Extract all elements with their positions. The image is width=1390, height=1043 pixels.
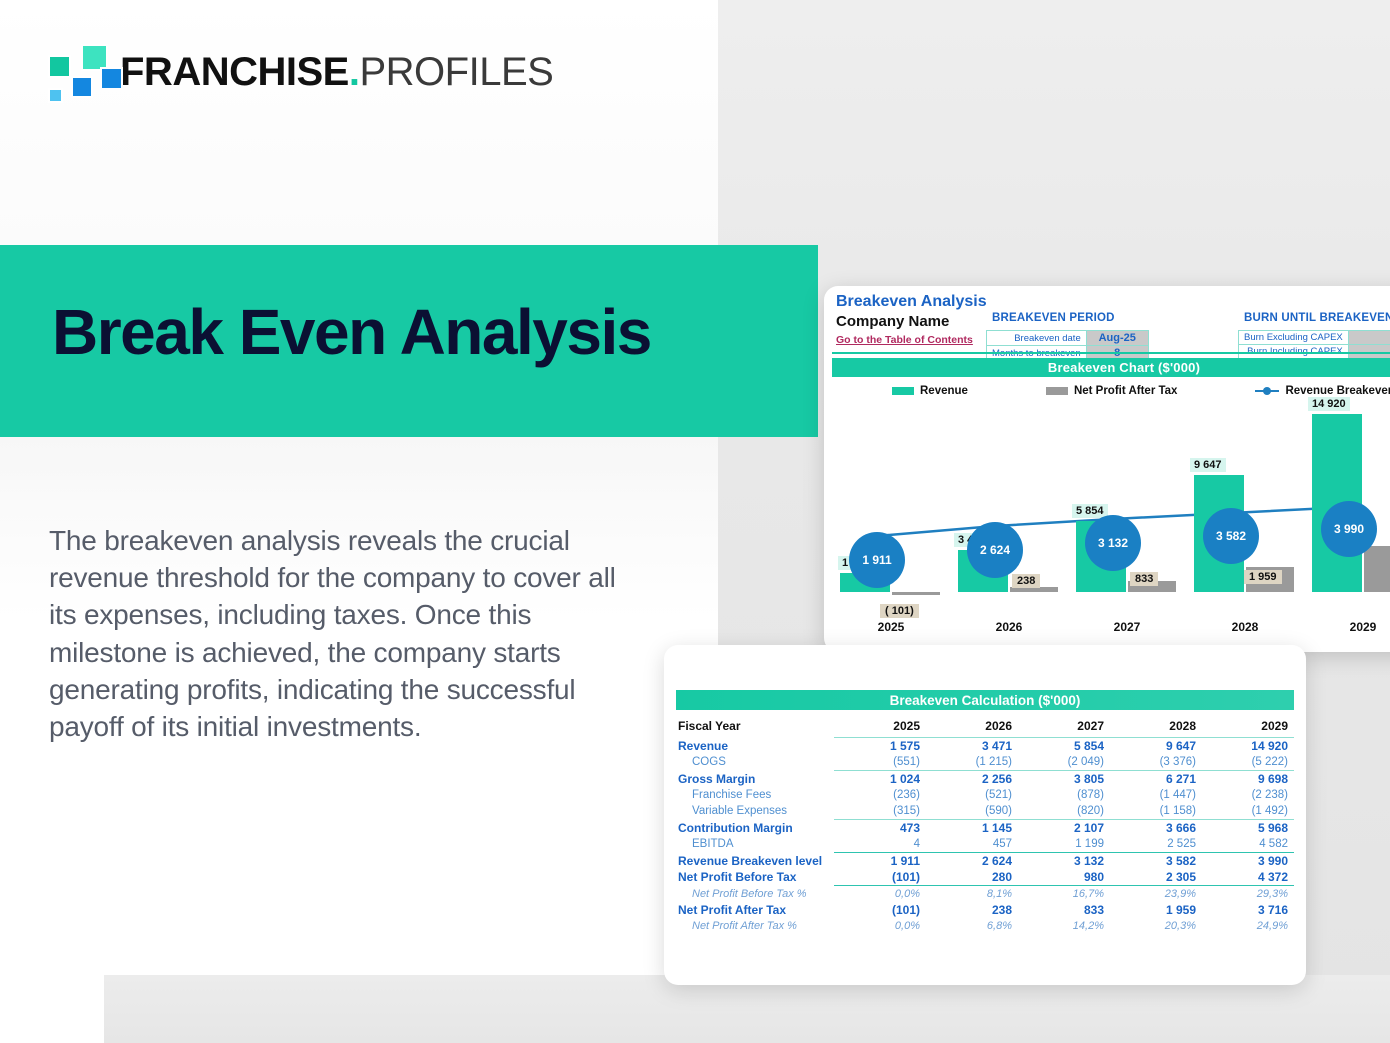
- burn-excluding-capex-label: Burn Excluding CAPEX: [1239, 331, 1349, 345]
- bar-npat-2025[interactable]: [892, 592, 940, 595]
- table-row: Net Profit Before Tax(101)2809802 3054 3…: [676, 869, 1294, 886]
- table-cell: 0,0%: [834, 918, 926, 934]
- x-axis-label-2028: 2028: [1186, 620, 1304, 634]
- legend-swatch-line-icon: [1255, 387, 1279, 395]
- table-cell: 457: [926, 836, 1018, 853]
- marker-breakeven-2028[interactable]: 3 582: [1203, 508, 1259, 564]
- breakeven-date-value[interactable]: Aug-25: [1086, 331, 1148, 346]
- label-npat-2025: ( 101): [880, 604, 919, 618]
- table-cell: 3 132: [1018, 853, 1110, 870]
- table-row: Breakeven date Aug-25: [987, 331, 1149, 346]
- table-cell: 3 990: [1202, 853, 1294, 870]
- breakeven-calculation-card: Breakeven Calculation ($'000) Fiscal Yea…: [664, 645, 1306, 985]
- table-of-contents-link[interactable]: Go to the Table of Contents: [836, 334, 973, 346]
- column-header-year-2027: 2027: [1018, 715, 1110, 738]
- x-axis-label-2025: 2025: [832, 620, 950, 634]
- breakeven-chart-card: Breakeven Analysis Company Name Go to th…: [824, 286, 1390, 652]
- table-cell: 1 911: [834, 853, 926, 870]
- table-cell: (2 049): [1018, 754, 1110, 771]
- marker-breakeven-2029[interactable]: 3 990: [1321, 501, 1377, 557]
- brand-name-light: PROFILES: [359, 50, 553, 94]
- table-cell: 3 716: [1202, 902, 1294, 918]
- table-cell: (878): [1018, 787, 1110, 803]
- background-top-strip: [0, 0, 718, 245]
- table-row: Net Profit After Tax %0,0%6,8%14,2%20,3%…: [676, 918, 1294, 934]
- column-header-year-2025: 2025: [834, 715, 926, 738]
- marker-breakeven-2025[interactable]: 1 911: [849, 532, 905, 588]
- logo-squares-icon: [46, 44, 104, 100]
- bar-npat-2029[interactable]: [1364, 546, 1390, 592]
- table-cell: (521): [926, 787, 1018, 803]
- column-header-year-2028: 2028: [1110, 715, 1202, 738]
- label-npat-2027: 833: [1130, 572, 1158, 586]
- table-cell: 5 968: [1202, 820, 1294, 837]
- table-cell: 4 582: [1202, 836, 1294, 853]
- burn-excluding-capex-value[interactable]: [1348, 331, 1390, 345]
- row-label: Net Profit After Tax %: [676, 918, 834, 934]
- brand-wordmark: FRANCHISE.PROFILES: [120, 52, 553, 92]
- legend-item-revenue-breakeven-level[interactable]: Revenue Breakeven level: [1255, 385, 1390, 397]
- table-cell: 1 145: [926, 820, 1018, 837]
- table-cell: 280: [926, 869, 1018, 886]
- x-axis-label-2029: 2029: [1304, 620, 1390, 634]
- column-header-year-2026: 2026: [926, 715, 1018, 738]
- breakeven-period-heading: BREAKEVEN PERIOD: [992, 312, 1115, 324]
- table-cell: (551): [834, 754, 926, 771]
- background-bottom-grey: [104, 975, 1390, 1043]
- table-cell: 24,9%: [1202, 918, 1294, 934]
- chart-band-title: Breakeven Chart ($'000): [832, 358, 1390, 377]
- table-cell: (1 215): [926, 754, 1018, 771]
- legend-label-net-profit-after-tax: Net Profit After Tax: [1074, 385, 1178, 397]
- chart-legend: Revenue Net Profit After Tax Revenue Bre…: [832, 381, 1390, 401]
- table-cell: 14 920: [1202, 738, 1294, 755]
- legend-swatch-revenue-icon: [892, 387, 914, 395]
- breakeven-date-label: Breakeven date: [987, 331, 1087, 346]
- table-cell: 833: [1018, 902, 1110, 918]
- legend-label-revenue-breakeven-level: Revenue Breakeven level: [1285, 385, 1390, 397]
- table-cell: 3 805: [1018, 771, 1110, 788]
- table-band-title: Breakeven Calculation ($'000): [676, 690, 1294, 710]
- table-cell: (590): [926, 803, 1018, 820]
- row-label: Revenue: [676, 738, 834, 755]
- table-row: Variable Expenses(315)(590)(820)(1 158)(…: [676, 803, 1294, 820]
- table-header-row: Fiscal Year20252026202720282029: [676, 715, 1294, 738]
- page-title: Break Even Analysis: [52, 295, 651, 369]
- table-cell: 3 582: [1110, 853, 1202, 870]
- sheet-company-name: Company Name: [836, 313, 949, 330]
- table-cell: 9 698: [1202, 771, 1294, 788]
- chart-column-2028: 9 647 1 959 3 582: [1186, 402, 1304, 592]
- legend-label-revenue: Revenue: [920, 385, 968, 397]
- table-cell: 1 959: [1110, 902, 1202, 918]
- table-row: Net Profit After Tax(101)2388331 9593 71…: [676, 902, 1294, 918]
- chart-column-2026: 3 471 238 2 624: [950, 402, 1068, 592]
- table-cell: 3 666: [1110, 820, 1202, 837]
- x-axis-label-2027: 2027: [1068, 620, 1186, 634]
- table-row: COGS(551)(1 215)(2 049)(3 376)(5 222): [676, 754, 1294, 771]
- row-label: Net Profit After Tax: [676, 902, 834, 918]
- table-cell: (1 158): [1110, 803, 1202, 820]
- table-cell: 9 647: [1110, 738, 1202, 755]
- column-header-year-2029: 2029: [1202, 715, 1294, 738]
- table-cell: 2 305: [1110, 869, 1202, 886]
- table-cell: (3 376): [1110, 754, 1202, 771]
- row-label: Net Profit Before Tax %: [676, 886, 834, 903]
- table-cell: (820): [1018, 803, 1110, 820]
- label-npat-2028: 1 959: [1244, 570, 1282, 584]
- brand-name-dot: .: [349, 50, 360, 94]
- brand-logo[interactable]: FRANCHISE.PROFILES: [46, 44, 553, 100]
- table-cell: 1 199: [1018, 836, 1110, 853]
- table-row: Contribution Margin4731 1452 1073 6665 9…: [676, 820, 1294, 837]
- burn-until-breakeven-heading: BURN UNTIL BREAKEVEN: [1244, 312, 1390, 324]
- table-cell: 29,3%: [1202, 886, 1294, 903]
- table-cell: 20,3%: [1110, 918, 1202, 934]
- table-cell: 2 256: [926, 771, 1018, 788]
- table-cell: 4 372: [1202, 869, 1294, 886]
- table-cell: 3 471: [926, 738, 1018, 755]
- breakeven-calculation-table: Fiscal Year20252026202720282029Revenue1 …: [676, 715, 1294, 934]
- table-cell: (236): [834, 787, 926, 803]
- marker-breakeven-2026[interactable]: 2 624: [967, 522, 1023, 578]
- brand-name-bold: FRANCHISE: [120, 50, 349, 94]
- table-cell: (1 447): [1110, 787, 1202, 803]
- table-cell: 2 107: [1018, 820, 1110, 837]
- legend-item-revenue[interactable]: Revenue: [892, 385, 968, 397]
- table-cell: 6 271: [1110, 771, 1202, 788]
- row-label: Contribution Margin: [676, 820, 834, 837]
- row-label: COGS: [676, 754, 834, 771]
- sheet-header: Breakeven Analysis Company Name Go to th…: [824, 286, 1390, 358]
- table-cell: (315): [834, 803, 926, 820]
- chart-plot-area: 1 575 ( 101) 1 911 2025 3 471 238 2 624 …: [832, 406, 1390, 652]
- label-revenue-2028: 9 647: [1190, 458, 1226, 472]
- chart-column-2029: 14 920 3 990: [1304, 402, 1390, 592]
- table-cell: 5 854: [1018, 738, 1110, 755]
- label-npat-2026: 238: [1012, 574, 1040, 588]
- table-cell: (5 222): [1202, 754, 1294, 771]
- column-header-fiscal-year: Fiscal Year: [676, 715, 834, 738]
- table-cell: 23,9%: [1110, 886, 1202, 903]
- intro-paragraph: The breakeven analysis reveals the cruci…: [49, 522, 629, 745]
- legend-swatch-npat-icon: [1046, 387, 1068, 395]
- table-cell: 6,8%: [926, 918, 1018, 934]
- table-row: Net Profit Before Tax %0,0%8,1%16,7%23,9…: [676, 886, 1294, 903]
- burn-until-breakeven-table: Burn Excluding CAPEX Burn Including CAPE…: [1238, 330, 1390, 359]
- row-label: Gross Margin: [676, 771, 834, 788]
- x-axis-label-2026: 2026: [950, 620, 1068, 634]
- table-cell: (2 238): [1202, 787, 1294, 803]
- table-row: Revenue Breakeven level1 9112 6243 1323 …: [676, 853, 1294, 870]
- marker-breakeven-2027[interactable]: 3 132: [1085, 515, 1141, 571]
- sheet-title: Breakeven Analysis: [836, 293, 987, 311]
- table-cell: 238: [926, 902, 1018, 918]
- table-cell: 473: [834, 820, 926, 837]
- legend-item-net-profit-after-tax[interactable]: Net Profit After Tax: [1046, 385, 1178, 397]
- table-cell: 16,7%: [1018, 886, 1110, 903]
- table-cell: 1 575: [834, 738, 926, 755]
- table-cell: 2 525: [1110, 836, 1202, 853]
- table-cell: 8,1%: [926, 886, 1018, 903]
- table-row: Burn Excluding CAPEX: [1239, 331, 1390, 345]
- row-label: EBITDA: [676, 836, 834, 853]
- title-banner: Break Even Analysis: [0, 245, 818, 437]
- row-label: Net Profit Before Tax: [676, 869, 834, 886]
- table-cell: 0,0%: [834, 886, 926, 903]
- breakeven-period-table: Breakeven date Aug-25 Months to breakeve…: [986, 330, 1149, 361]
- table-row: Revenue1 5753 4715 8549 64714 920: [676, 738, 1294, 755]
- chart-column-2025: 1 575 ( 101) 1 911: [832, 402, 950, 592]
- label-revenue-2029: 14 920: [1308, 397, 1350, 411]
- table-cell: 14,2%: [1018, 918, 1110, 934]
- table-row: Gross Margin1 0242 2563 8056 2719 698: [676, 771, 1294, 788]
- row-label: Variable Expenses: [676, 803, 834, 820]
- table-cell: (101): [834, 869, 926, 886]
- table-cell: 4: [834, 836, 926, 853]
- table-cell: 2 624: [926, 853, 1018, 870]
- sheet-divider: [832, 352, 1390, 354]
- table-row: EBITDA44571 1992 5254 582: [676, 836, 1294, 853]
- table-cell: 980: [1018, 869, 1110, 886]
- row-label: Franchise Fees: [676, 787, 834, 803]
- row-label: Revenue Breakeven level: [676, 853, 834, 870]
- table-cell: (101): [834, 902, 926, 918]
- table-row: Franchise Fees(236)(521)(878)(1 447)(2 2…: [676, 787, 1294, 803]
- table-cell: 1 024: [834, 771, 926, 788]
- chart-column-2027: 5 854 833 3 132: [1068, 402, 1186, 592]
- table-cell: (1 492): [1202, 803, 1294, 820]
